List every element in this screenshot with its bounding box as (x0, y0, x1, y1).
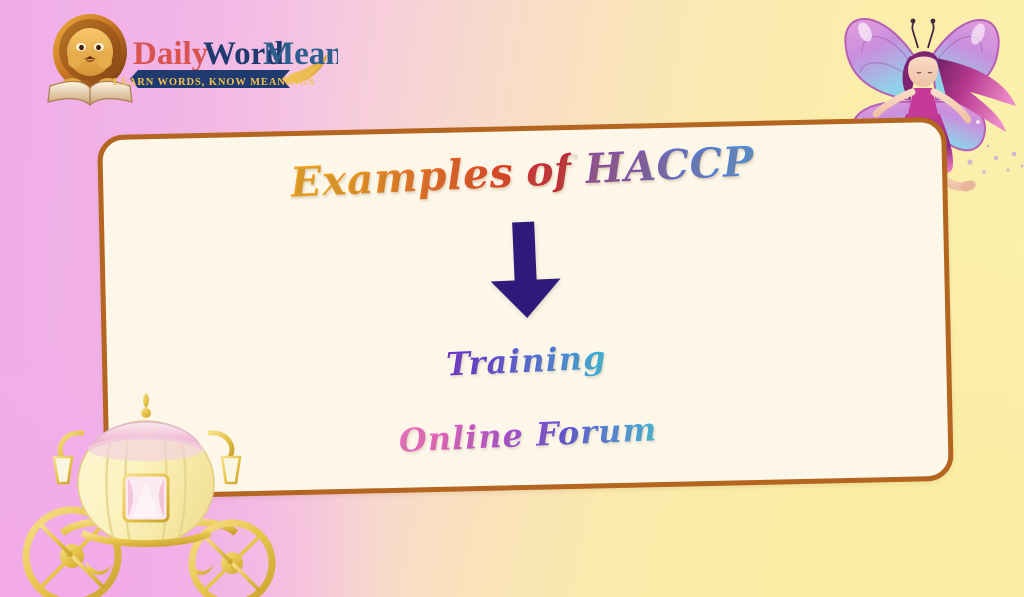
carriage-body (78, 393, 214, 545)
fairy-antenna-left (912, 22, 918, 48)
fairy-antenna-right (928, 22, 934, 48)
title-word-examples: Examples (290, 148, 515, 206)
title-word-of: of (525, 146, 573, 196)
item-online-forum[interactable]: Online Forum (398, 410, 658, 459)
down-arrow-icon (479, 216, 569, 324)
title-word-haccp: HACCP (584, 137, 755, 193)
logo-text-meaning: Meaning (263, 36, 338, 72)
pumpkin-carriage-illustration (20, 391, 288, 597)
item-training[interactable]: Training (446, 338, 608, 383)
poster-canvas: Daily Word Meaning LEARN WORDS, KNOW MEA… (0, 0, 1024, 597)
logo-tagline: LEARN WORDS, KNOW MEANINGS (113, 77, 315, 88)
carriage-finial (143, 393, 149, 409)
page-title: ExamplesofHACCP (290, 137, 756, 206)
site-logo[interactable]: Daily Word Meaning LEARN WORDS, KNOW MEA… (38, 6, 338, 110)
logo-text-daily: Daily (133, 36, 209, 72)
